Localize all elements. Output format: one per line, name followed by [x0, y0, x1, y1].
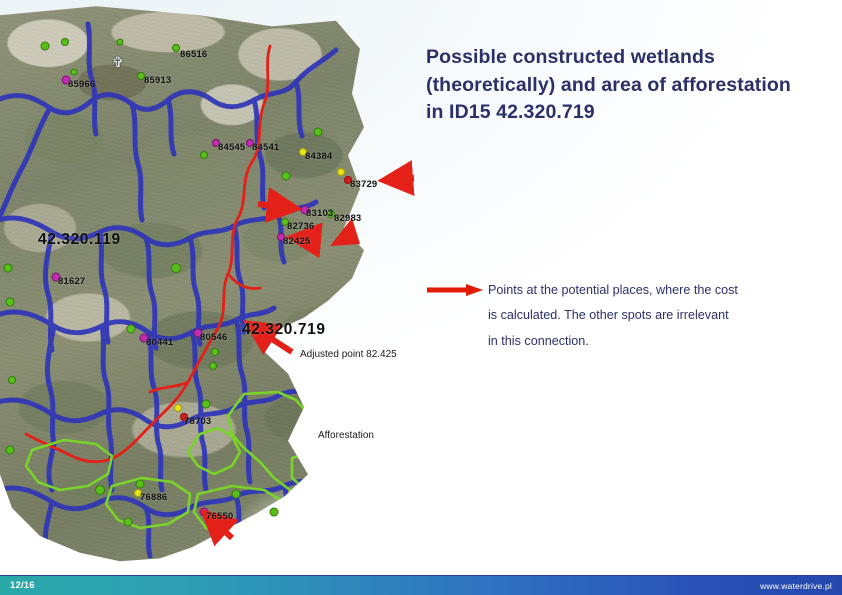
red-arrow-right-icon [426, 283, 484, 297]
title-line-1: Possible constructed wetlands [426, 44, 826, 72]
map-point-label: 76886 [140, 493, 167, 503]
map-figure: ✞ 42.320.11942.320.719865168591385966845… [0, 0, 425, 575]
map-point-label: 84384 [305, 152, 332, 162]
map-point-label: 85966 [68, 80, 95, 90]
map-annotation-label: Adjusted point 82.425 [300, 350, 397, 360]
map-point-label: 80546 [200, 333, 227, 343]
map-point-label: 76550 [206, 512, 233, 522]
legend-line-1: Points at the potential places, where th… [488, 278, 738, 303]
map-point-label: 80441 [146, 338, 173, 348]
legend-line-3: in this connection. [488, 329, 738, 354]
legend-line-2: is calculated. The other spots are irrel… [488, 303, 738, 328]
title-line-2: (theoretically) and area of afforestatio… [426, 72, 826, 100]
title-line-3: in ID15 42.320.719 [426, 99, 826, 127]
slide-footer: 12/16 www.waterdrive.pl [0, 575, 842, 595]
map-point-label: 86516 [180, 50, 207, 60]
map-point-label: 84541 [252, 143, 279, 153]
legend-description: Points at the potential places, where th… [488, 278, 738, 354]
legend-arrow-swatch [426, 278, 488, 302]
map-point-label: 78703 [184, 417, 211, 427]
map-point-label: 85913 [144, 76, 171, 86]
map-point-label: 82736 [287, 222, 314, 232]
map-point-label: 83729 [350, 180, 377, 190]
map-area-label: 42.320.119 [38, 232, 121, 248]
page-indicator: 12/16 [10, 580, 35, 591]
map-point-label: 82425 [283, 237, 310, 247]
map-point-label: 83103 [306, 209, 333, 219]
map-point-label: 84545 [218, 143, 245, 153]
map-area-label: 42.320.719 [242, 322, 326, 338]
map-annotation-label: Afforestation [318, 431, 374, 441]
map-callout-arrows [0, 0, 425, 575]
map-point-label: 81627 [58, 277, 85, 287]
map-point-label: 82983 [334, 214, 361, 224]
legend: Points at the potential places, where th… [426, 278, 826, 354]
website-url[interactable]: www.waterdrive.pl [760, 581, 832, 591]
page-title: Possible constructed wetlands (theoretic… [426, 44, 826, 127]
